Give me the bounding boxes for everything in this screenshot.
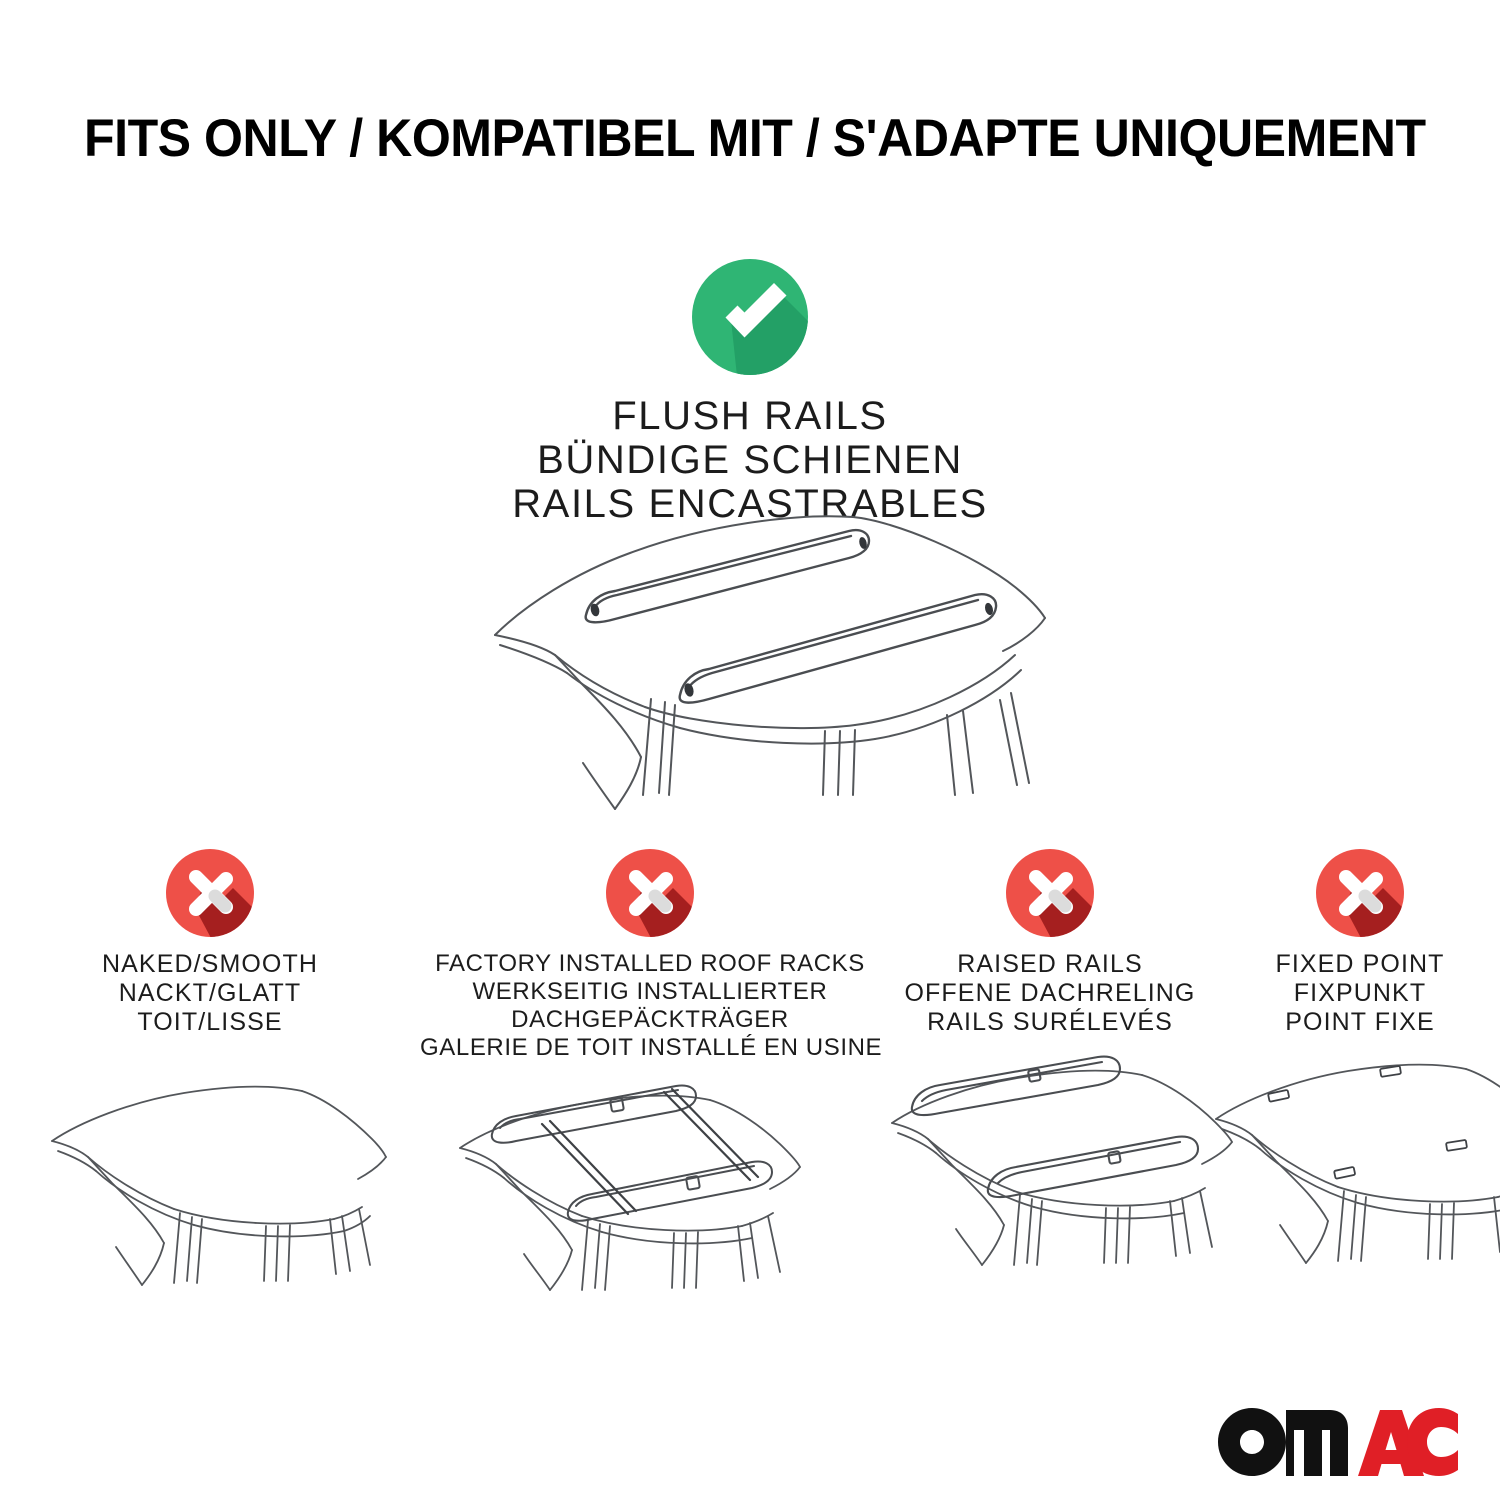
rejected-item-fixed-point: FIXED POINT FIXPUNKT POINT FIXE: [1220, 848, 1500, 1281]
rejected-label-line-2: NACKT/GLATT: [0, 979, 420, 1008]
approved-section: FLUSH RAILS BÜNDIGE SCHIENEN RAILS ENCAS…: [0, 258, 1500, 526]
car-roof-factory-roof-racks-illustration: [420, 1076, 880, 1306]
omac-logo-accent-part: [1358, 1408, 1458, 1476]
rejected-label-line-1: FACTORY INSTALLED ROOF RACKS: [420, 950, 880, 978]
car-roof-with-flush-rails-illustration: [455, 495, 1075, 815]
rejected-label-line-3: DACHGEPÄCKTRÄGER: [420, 1006, 880, 1034]
rejected-label-line-2: WERKSEITIG INSTALLIERTER: [420, 978, 880, 1006]
rejected-section: NAKED/SMOOTH NACKT/GLATT TOIT/LISSE: [0, 848, 1500, 1306]
rejected-item-label: NAKED/SMOOTH NACKT/GLATT TOIT/LISSE: [0, 950, 420, 1037]
red-cross-circle-icon: [1005, 848, 1095, 938]
red-cross-circle-icon: [605, 848, 695, 938]
rejected-item-label: FACTORY INSTALLED ROOF RACKS WERKSEITIG …: [420, 950, 880, 1062]
omac-logo-dark-part: [1218, 1408, 1348, 1476]
page-title: FITS ONLY / KOMPATIBEL MIT / S'ADAPTE UN…: [84, 108, 1350, 169]
approved-label-line-2: BÜNDIGE SCHIENEN: [0, 438, 1500, 482]
rejected-label-line-2: OFFENE DACHRELING: [880, 979, 1220, 1008]
rejected-item-label: FIXED POINT FIXPUNKT POINT FIXE: [1220, 950, 1500, 1037]
red-cross-circle-icon: [165, 848, 255, 938]
car-roof-naked-smooth-illustration: [0, 1051, 420, 1281]
approved-label-line-1: FLUSH RAILS: [0, 394, 1500, 438]
omac-logo: [1218, 1408, 1458, 1476]
rejected-item-label: RAISED RAILS OFFENE DACHRELING RAILS SUR…: [880, 950, 1220, 1037]
red-cross-circle-icon: [1315, 848, 1405, 938]
car-roof-fixed-point-illustration: [1220, 1051, 1500, 1281]
rejected-item-raised-rails: RAISED RAILS OFFENE DACHRELING RAILS SUR…: [880, 848, 1220, 1281]
rejected-label-line-4: GALERIE DE TOIT INSTALLÉ EN USINE: [420, 1034, 880, 1062]
rejected-label-line-1: FIXED POINT: [1220, 950, 1500, 979]
infographic-page: FITS ONLY / KOMPATIBEL MIT / S'ADAPTE UN…: [0, 0, 1500, 1500]
rejected-label-line-1: NAKED/SMOOTH: [0, 950, 420, 979]
rejected-label-line-3: TOIT/LISSE: [0, 1008, 420, 1037]
rejected-label-line-3: POINT FIXE: [1220, 1008, 1500, 1037]
rejected-label-line-1: RAISED RAILS: [880, 950, 1220, 979]
green-check-circle-icon: [691, 258, 809, 376]
rejected-label-line-2: FIXPUNKT: [1220, 979, 1500, 1008]
rejected-label-line-3: RAILS SURÉLEVÉS: [880, 1008, 1220, 1037]
rejected-item-factory-roof-racks: FACTORY INSTALLED ROOF RACKS WERKSEITIG …: [420, 848, 880, 1306]
car-roof-raised-rails-illustration: [880, 1051, 1220, 1281]
rejected-item-naked-smooth: NAKED/SMOOTH NACKT/GLATT TOIT/LISSE: [0, 848, 420, 1281]
